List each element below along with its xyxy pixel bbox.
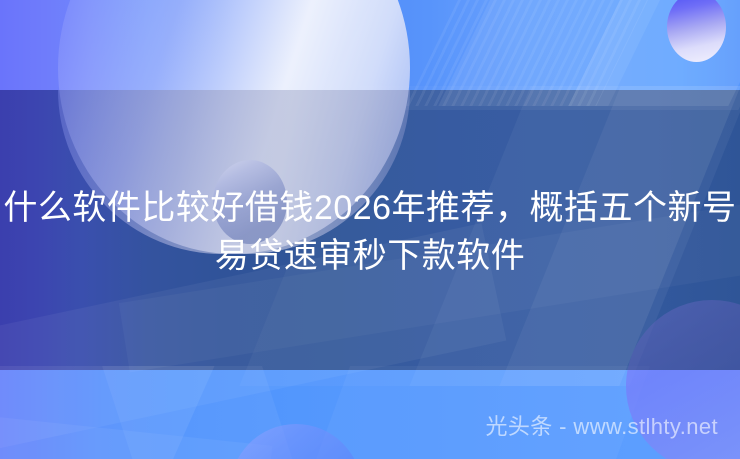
banner-title: 什么软件比较好借钱2026年推荐，概括五个新号易贷速审秒下款软件 — [0, 184, 740, 280]
site-watermark: 光头条 - www.stlhty.net — [485, 413, 718, 441]
background-band-top — [0, 0, 740, 90]
promo-banner: 什么软件比较好借钱2026年推荐，概括五个新号易贷速审秒下款软件 光头条 - w… — [0, 0, 740, 459]
